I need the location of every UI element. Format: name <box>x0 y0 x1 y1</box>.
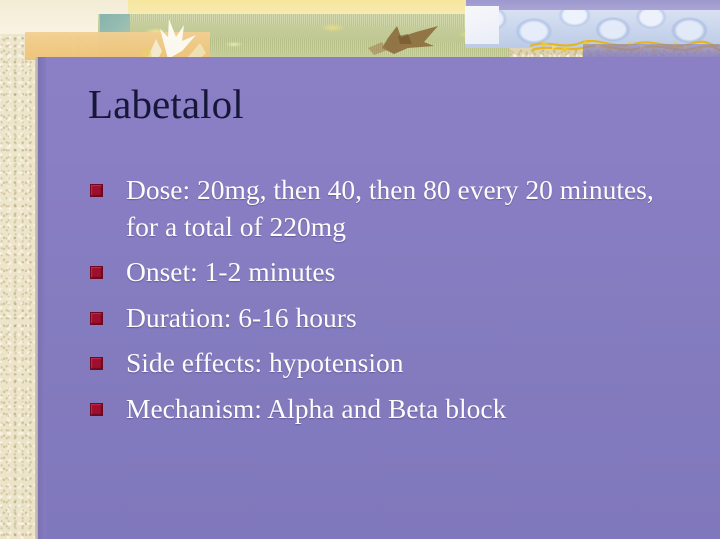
square-bullet-icon <box>90 266 103 279</box>
square-bullet-icon <box>90 312 103 325</box>
white-lily-leaf-cluster <box>138 13 210 60</box>
brown-bird-silhouette <box>368 24 442 56</box>
decorative-collage-header-band <box>0 0 720 60</box>
square-bullet-icon <box>90 403 103 416</box>
list-item: Onset: 1-2 minutes <box>90 254 670 291</box>
list-item-label: Onset: 1-2 minutes <box>126 254 670 291</box>
panel-left-seam <box>38 57 46 539</box>
list-item: Duration: 6-16 hours <box>90 300 670 337</box>
list-item: Dose: 20mg, then 40, then 80 every 20 mi… <box>90 172 670 245</box>
slide-bullet-list: Dose: 20mg, then 40, then 80 every 20 mi… <box>90 172 670 436</box>
slide-title: Labetalol <box>88 82 648 127</box>
square-bullet-icon <box>90 357 103 370</box>
list-item-label: Side effects: hypotension <box>126 345 670 382</box>
presentation-slide: Labetalol Dose: 20mg, then 40, then 80 e… <box>0 0 720 539</box>
list-item: Mechanism: Alpha and Beta block <box>90 391 670 428</box>
white-notch-block <box>465 6 499 44</box>
list-item-label: Duration: 6-16 hours <box>126 300 670 337</box>
list-item: Side effects: hypotension <box>90 345 670 382</box>
list-item-label: Mechanism: Alpha and Beta block <box>126 391 670 428</box>
square-bullet-icon <box>90 184 103 197</box>
grey-blue-strip <box>466 0 720 10</box>
list-item-label: Dose: 20mg, then 40, then 80 every 20 mi… <box>126 172 670 245</box>
